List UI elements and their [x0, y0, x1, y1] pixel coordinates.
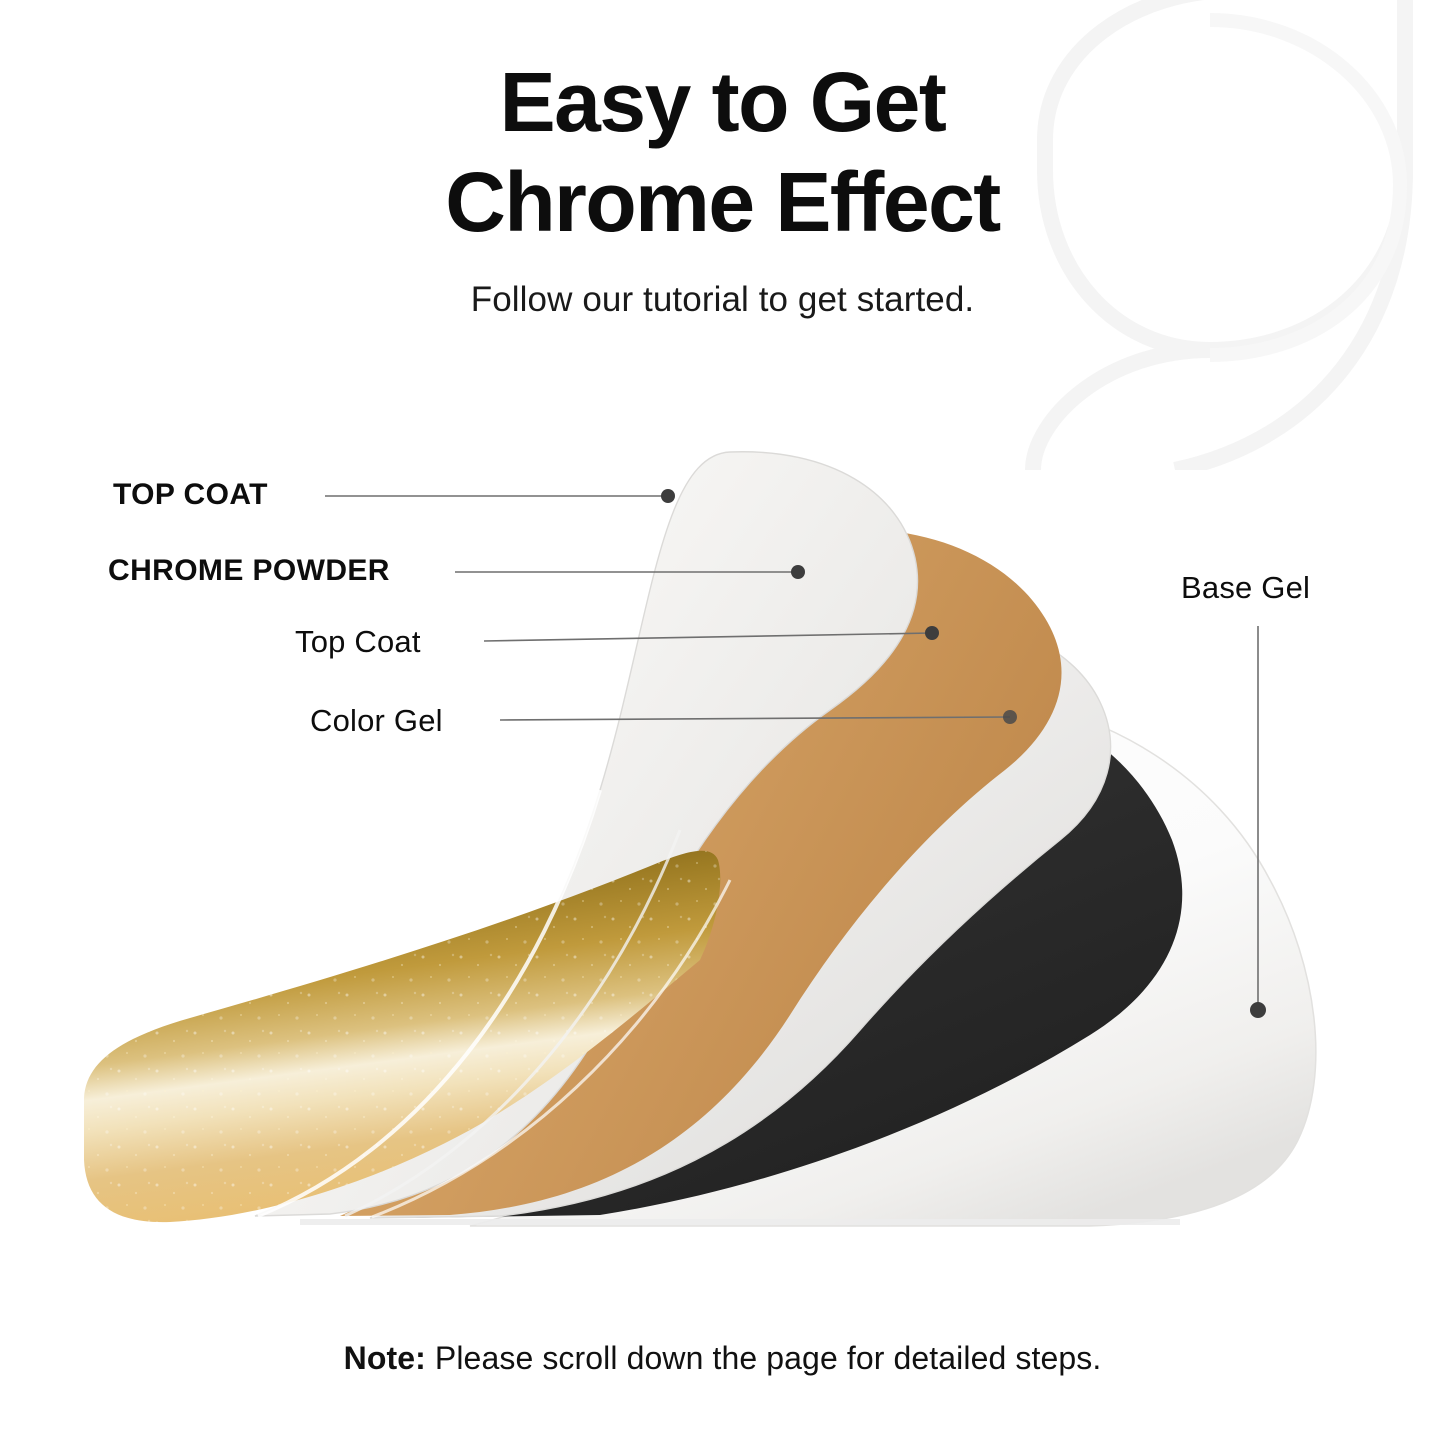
callout-label-color-gel: Color Gel: [310, 703, 443, 739]
footer-note-text: Please scroll down the page for detailed…: [426, 1340, 1101, 1376]
nail-layers-illustration: [0, 0, 1445, 1445]
leader-dot-top-coat-inner: [925, 626, 939, 640]
callout-label-top-coat-inner: Top Coat: [295, 624, 421, 660]
leader-dot-chrome-powder: [791, 565, 805, 579]
leader-dot-top-coat-outer: [661, 489, 675, 503]
callout-label-base-gel: Base Gel: [1181, 570, 1310, 606]
callout-label-top-coat-outer: TOP COAT: [113, 478, 268, 512]
poster-canvas: Easy to Get Chrome Effect Follow our tut…: [0, 0, 1445, 1445]
leader-dot-base-gel: [1250, 1002, 1266, 1018]
footer-note: Note: Please scroll down the page for de…: [0, 1340, 1445, 1377]
callout-label-chrome-powder: CHROME POWDER: [108, 554, 390, 588]
footer-note-label: Note:: [344, 1340, 426, 1376]
leader-dot-color-gel: [1003, 710, 1017, 724]
